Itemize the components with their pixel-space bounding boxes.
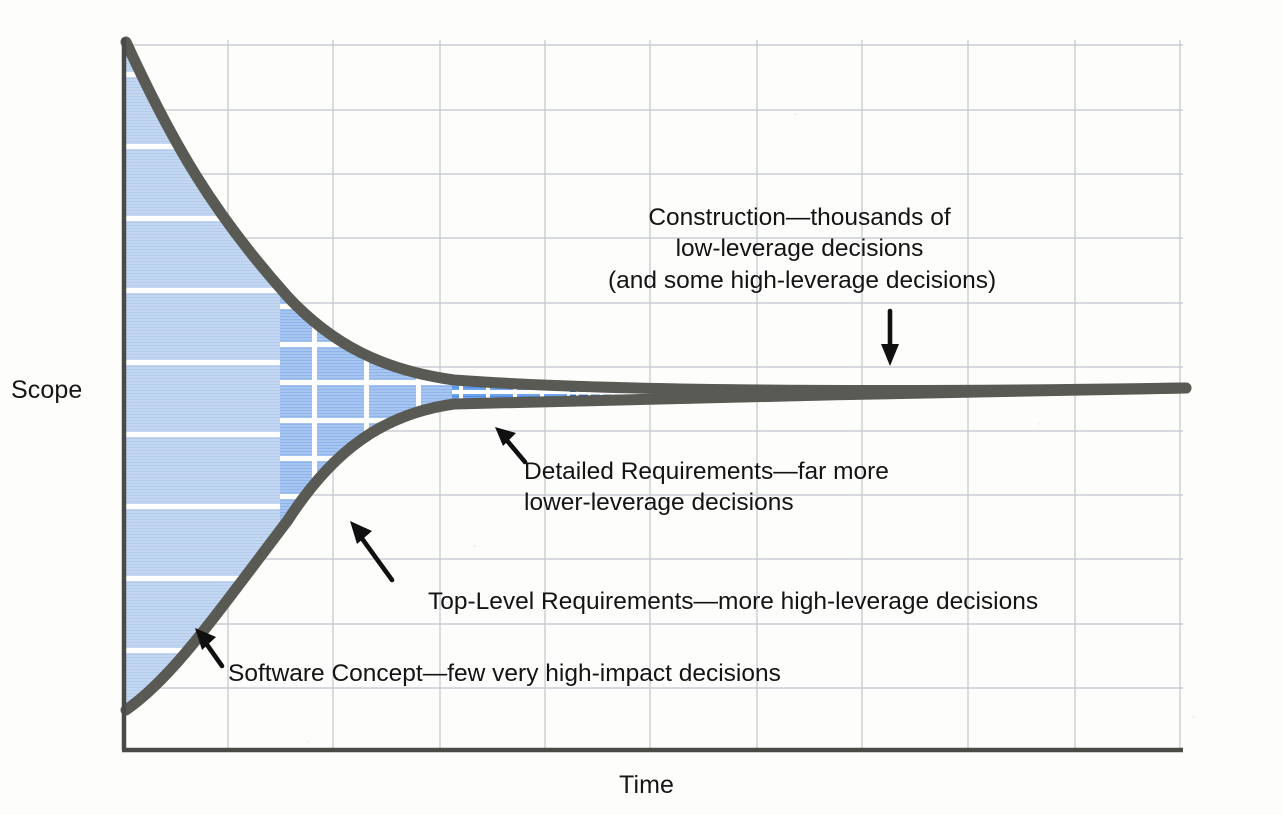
callout-line: Software Concept—few very high-impact de…	[228, 658, 781, 689]
callout-line: (and some high-leverage decisions)	[608, 265, 991, 296]
callout-line: Construction—thousands of	[608, 202, 991, 233]
funnel-body	[120, 30, 1190, 730]
callout-line: low-leverage decisions	[608, 233, 991, 264]
up-left-arrow-software-concept	[195, 628, 222, 666]
up-left-arrow-top-level	[350, 521, 392, 580]
scope-time-funnel-figure: Scope Time Construction—thousands of low…	[0, 0, 1283, 815]
up-left-arrow-detailed	[495, 427, 525, 462]
callout-line: Top-Level Requirements—more high-leverag…	[428, 586, 1038, 617]
callout-line: lower-leverage decisions	[524, 487, 889, 518]
x-axis-label: Time	[619, 771, 674, 800]
phase-band-software-concept	[120, 30, 280, 730]
construction-callout: Construction—thousands of low-leverage d…	[608, 202, 991, 296]
top-level-requirements-callout: Top-Level Requirements—more high-leverag…	[428, 586, 1038, 617]
callout-line: Detailed Requirements—far more	[524, 456, 889, 487]
down-arrow-construction	[881, 311, 899, 366]
detailed-requirements-callout: Detailed Requirements—far more lower-lev…	[524, 456, 889, 519]
y-axis-label: Scope	[11, 376, 82, 405]
chart-canvas	[0, 0, 1283, 815]
software-concept-callout: Software Concept—few very high-impact de…	[228, 658, 781, 689]
